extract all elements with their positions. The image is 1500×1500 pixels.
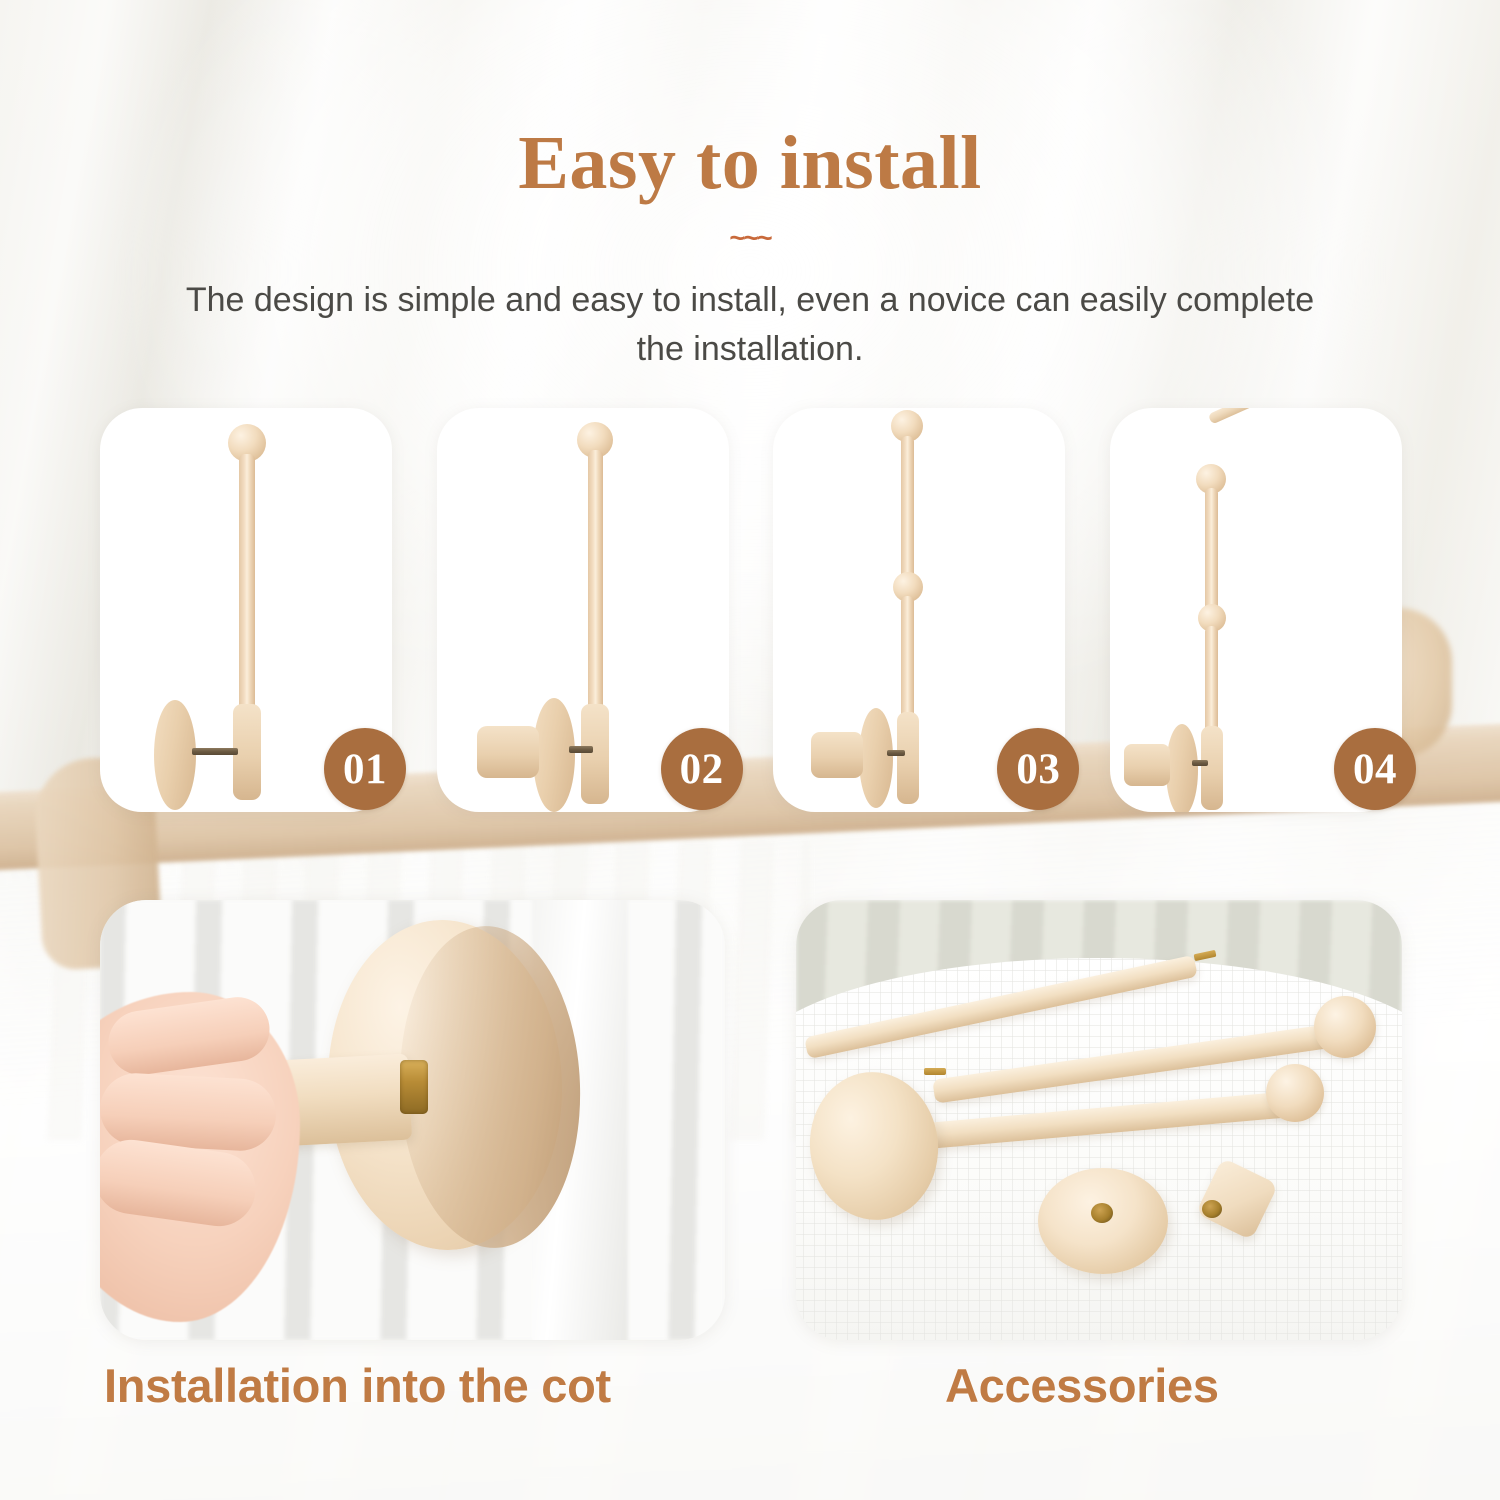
step-number-badge-04: 04 (1334, 728, 1416, 810)
squiggle-divider: ~~~ (0, 225, 1500, 252)
photo-panels-row (100, 900, 1402, 1340)
rod-collar-icon (897, 712, 919, 804)
accessories-photo (796, 900, 1402, 1340)
rod-lower-shaft-icon (1205, 626, 1218, 742)
rod-shaft-icon (239, 454, 255, 726)
wood-disc-icon (859, 708, 893, 808)
caption-accessories: Accessories (945, 1360, 1219, 1412)
peg-cylinder-icon (1124, 744, 1170, 786)
screw-bolt-icon (192, 748, 238, 755)
panel-installation-into-cot[interactable] (100, 900, 725, 1340)
step-card-04[interactable]: 04 (1110, 408, 1402, 812)
wood-disc-icon (533, 698, 575, 812)
step-card-02[interactable]: 02 (437, 408, 729, 812)
screw-bolt-icon (569, 746, 593, 753)
screw-bolt-icon (887, 750, 905, 756)
peg-cylinder-icon (477, 726, 539, 778)
step-number-badge-01: 01 (324, 728, 406, 810)
rod-upper-shaft-icon (901, 436, 914, 582)
peg-cylinder-icon (811, 732, 863, 778)
wood-disc-icon (154, 700, 196, 810)
brass-insert-icon (1202, 1200, 1222, 1218)
brass-tip-icon (924, 1068, 946, 1075)
panel-accessories[interactable] (796, 900, 1402, 1340)
accessory-rod-ball-end (1266, 1064, 1324, 1122)
page-title: Easy to install (0, 125, 1500, 203)
rod-collar-icon (581, 704, 609, 804)
rod-collar-icon (1201, 726, 1223, 810)
page-subtitle: The design is simple and easy to install… (170, 276, 1330, 375)
step-card-01[interactable]: 01 (100, 408, 392, 812)
step-number-badge-03: 03 (997, 728, 1079, 810)
wood-disc-icon (1166, 724, 1198, 812)
horizontal-arm-icon (1208, 408, 1402, 425)
step-number-badge-02: 02 (661, 728, 743, 810)
infographic-page: Easy to install ~~~ The design is simple… (0, 0, 1500, 1500)
brass-insert-icon (1091, 1203, 1113, 1223)
header: Easy to install ~~~ The design is simple… (0, 125, 1500, 374)
brass-screw-thread-icon (400, 1060, 428, 1114)
install-steps-row: 01 02 (100, 408, 1402, 812)
cot-installation-photo (100, 900, 725, 1340)
screw-bolt-icon (1192, 760, 1208, 766)
panel-captions: Installation into the cot Accessories (100, 1360, 1402, 1440)
rod-shaft-icon (588, 450, 603, 728)
caption-installation-into-cot: Installation into the cot (104, 1360, 611, 1412)
accessory-rod-ball-end (1314, 996, 1376, 1058)
rod-upper-shaft-icon (1205, 488, 1218, 612)
step-card-03[interactable]: 03 (773, 408, 1065, 812)
